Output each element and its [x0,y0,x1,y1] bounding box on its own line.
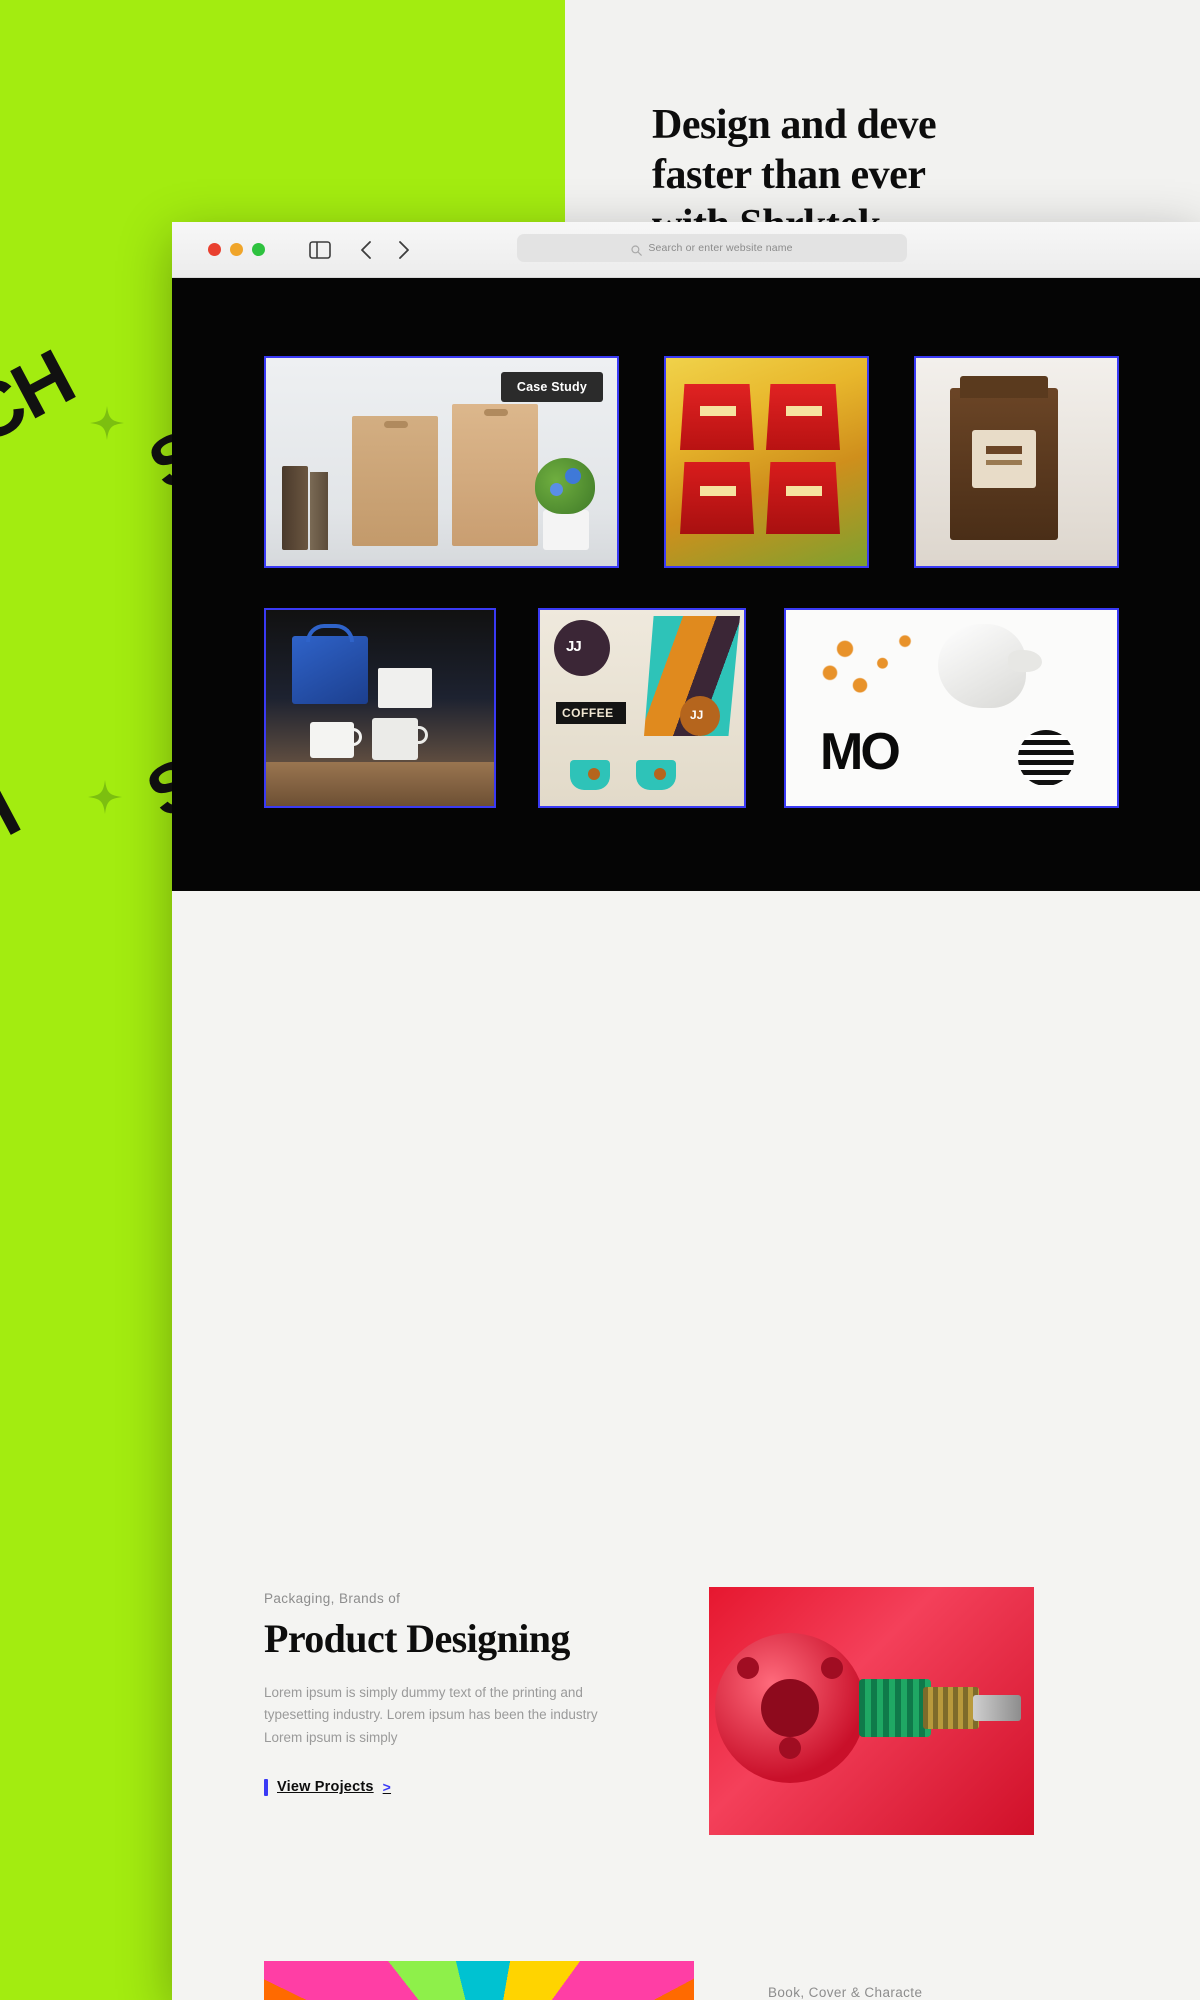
section-eyebrow: Packaging, Brands of [264,1591,664,1606]
hero-heading-line-2: faster than ever [652,154,1200,196]
chevron-right-icon[interactable] [397,240,413,260]
chevron-left-icon[interactable] [359,240,375,260]
section-product-designing: Packaging, Brands of Product Designing L… [264,1591,664,1801]
section-eyebrow: Book, Cover & Characte [768,1985,1168,2000]
gallery-tile-red-gift-boxes-packaging[interactable] [664,356,869,568]
browser-titlebar: Search or enter website name [172,222,1200,278]
gallery-tile-kraft-paper-bags-packaging[interactable]: Case Study [264,356,619,568]
case-study-badge[interactable]: Case Study [501,372,603,402]
gallery-tile-mono-lion-sculpture[interactable]: MO [784,608,1119,808]
search-icon [631,243,642,254]
gallery-tile-brown-coffee-pouch[interactable] [914,356,1119,568]
view-projects-label: View Projects [277,1779,374,1795]
section-body: Lorem ipsum is simply dummy text of the … [264,1682,616,1749]
accent-bar [264,1779,268,1796]
sparkle-icon [88,780,122,814]
minimize-window-button[interactable] [230,243,243,256]
address-bar[interactable]: Search or enter website name [517,234,907,262]
sparkle-icon [90,406,124,440]
browser-window: Search or enter website name Case Study [172,222,1200,2000]
section-illustration: Book, Cover & Characte Illustration Lore… [768,1985,1168,2000]
content-area: Packaging, Brands of Product Designing L… [172,891,1200,2000]
sidebar-icon[interactable] [309,241,331,259]
section-title: Product Designing [264,1618,664,1660]
gallery-tile-blue-tote-brand-kit[interactable] [264,608,496,808]
gallery-tile-jj-coffee-cups-branding[interactable]: JJ COFFEE JJ [538,608,746,808]
close-window-button[interactable] [208,243,221,256]
image-red-gear-render[interactable] [709,1587,1034,1835]
navigation-arrows [359,240,413,260]
maximize-window-button[interactable] [252,243,265,256]
window-controls [208,243,265,256]
address-bar-placeholder: Search or enter website name [648,242,792,254]
project-gallery: Case Study [172,278,1200,891]
hero-heading-line-1: Design and deve [652,104,1200,146]
view-projects-link-product[interactable]: View Projects > [264,1779,391,1796]
image-colorful-explosion-illustration[interactable] [264,1961,694,2000]
green-accent-panel-left [0,838,172,2000]
chevron-right-icon: > [383,1779,391,1795]
